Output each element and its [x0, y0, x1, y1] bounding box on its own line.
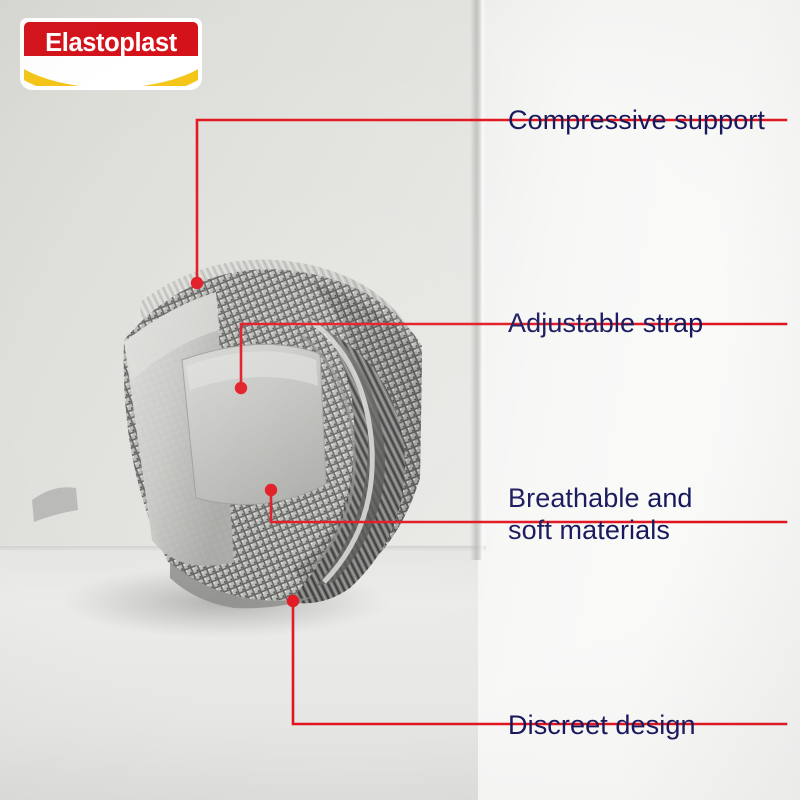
feature-label-adjustable-strap: Adjustable strap	[508, 275, 703, 339]
feature-label-compressive-support: Compressive support	[508, 72, 765, 136]
feature-label-text: Discreet design	[508, 710, 696, 740]
feature-label-text: Adjustable strap	[508, 308, 703, 338]
product-illustration	[20, 210, 460, 650]
product-loose-tab	[32, 487, 78, 522]
brand-name: Elastoplast	[20, 29, 202, 58]
background-corner-edge	[470, 0, 486, 560]
feature-label-text: Breathable and soft materials	[508, 483, 693, 545]
infographic-canvas: Compressive support Adjustable strap Bre…	[0, 0, 800, 800]
feature-label-discreet-design: Discreet design	[508, 677, 696, 741]
feature-label-breathable-soft-materials: Breathable and soft materials	[508, 450, 693, 546]
brand-logo: Elastoplast	[20, 18, 202, 90]
product-image	[20, 210, 460, 650]
feature-label-text: Compressive support	[508, 105, 765, 135]
logo-yellow-swoosh	[24, 56, 198, 86]
